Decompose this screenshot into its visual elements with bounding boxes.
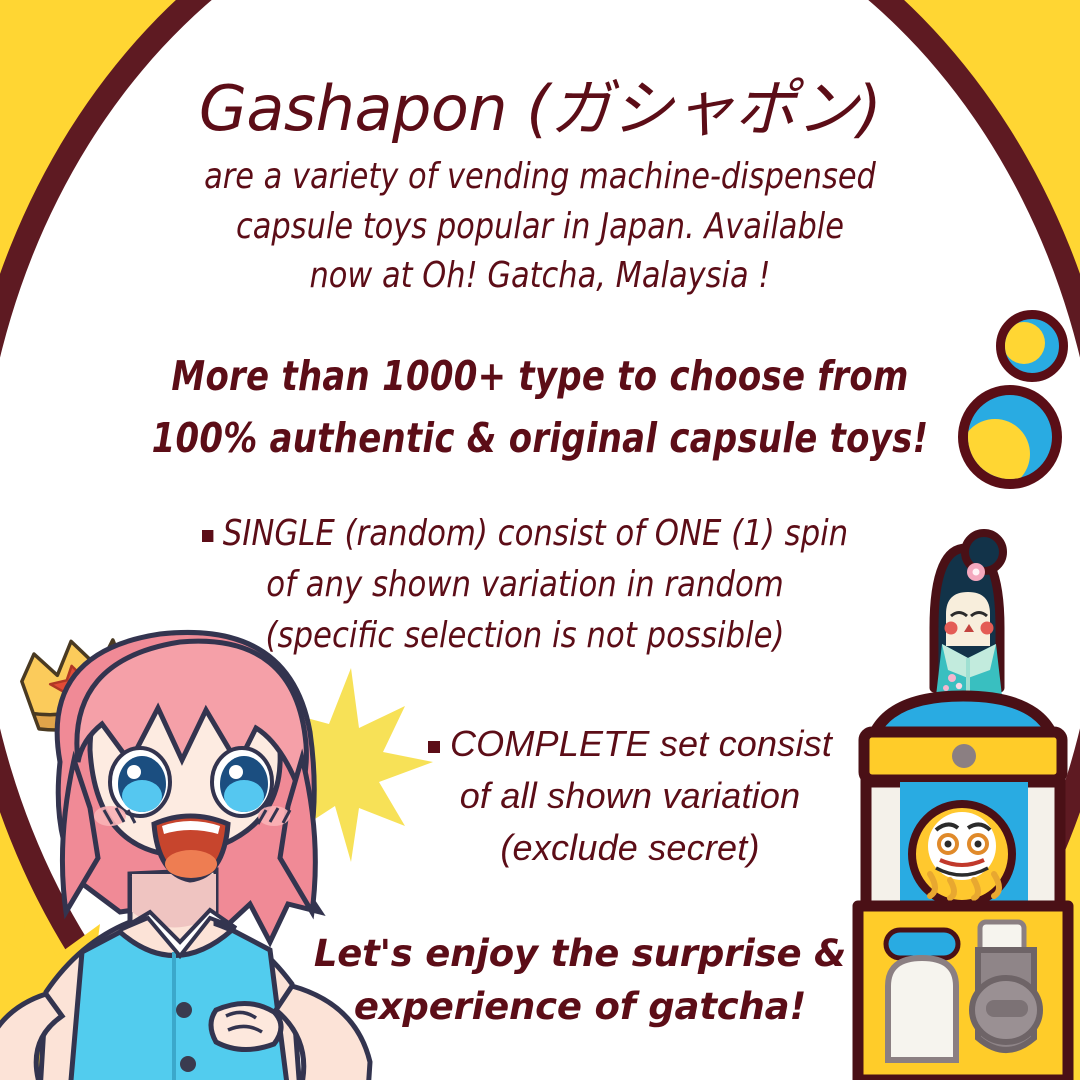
subheading-line: capsule toys popular in Japan. Available xyxy=(145,202,935,252)
closing-block: Let's enjoy the surprise & experience of… xyxy=(290,928,870,1033)
option-single-line-2: of any shown variation in random xyxy=(150,559,901,610)
bullet-square-icon xyxy=(428,741,440,753)
closing-line: experience of gatcha! xyxy=(290,981,870,1034)
claim-line: More than 1000+ type to choose from xyxy=(108,345,973,407)
option-complete-block: COMPLETE set consist of all shown variat… xyxy=(370,718,890,875)
closing-line: Let's enjoy the surprise & xyxy=(290,928,870,981)
option-complete-line-2: of all shown variation xyxy=(370,770,890,822)
poster-canvas: Gashapon (ガシャポン) are a variety of vendin… xyxy=(0,0,1080,1080)
text-content: Gashapon (ガシャポン) are a variety of vendin… xyxy=(0,0,1080,1080)
option-single-line-3: (specific selection is not possible) xyxy=(150,610,901,661)
option-complete-line-3: (exclude secret) xyxy=(370,822,890,874)
claims-block: More than 1000+ type to choose from 100%… xyxy=(108,345,973,470)
subheading-line: now at Oh! Gatcha, Malaysia ! xyxy=(145,251,935,301)
option-complete-line-1: COMPLETE set consist xyxy=(370,718,890,770)
bullet-square-icon xyxy=(202,530,213,542)
option-complete-text-1: COMPLETE set consist xyxy=(450,723,832,764)
claim-line: 100% authentic & original capsule toys! xyxy=(108,407,973,469)
subheading-line: are a variety of vending machine-dispens… xyxy=(145,152,935,202)
option-single-block: SINGLE (random) consist of ONE (1) spin … xyxy=(150,508,901,661)
page-title: Gashapon (ガシャポン) xyxy=(90,78,990,140)
subheading-paragraph: are a variety of vending machine-dispens… xyxy=(145,152,935,301)
option-single-line-1: SINGLE (random) consist of ONE (1) spin xyxy=(150,508,901,559)
option-single-text-1: SINGLE (random) consist of ONE (1) spin xyxy=(223,513,848,554)
